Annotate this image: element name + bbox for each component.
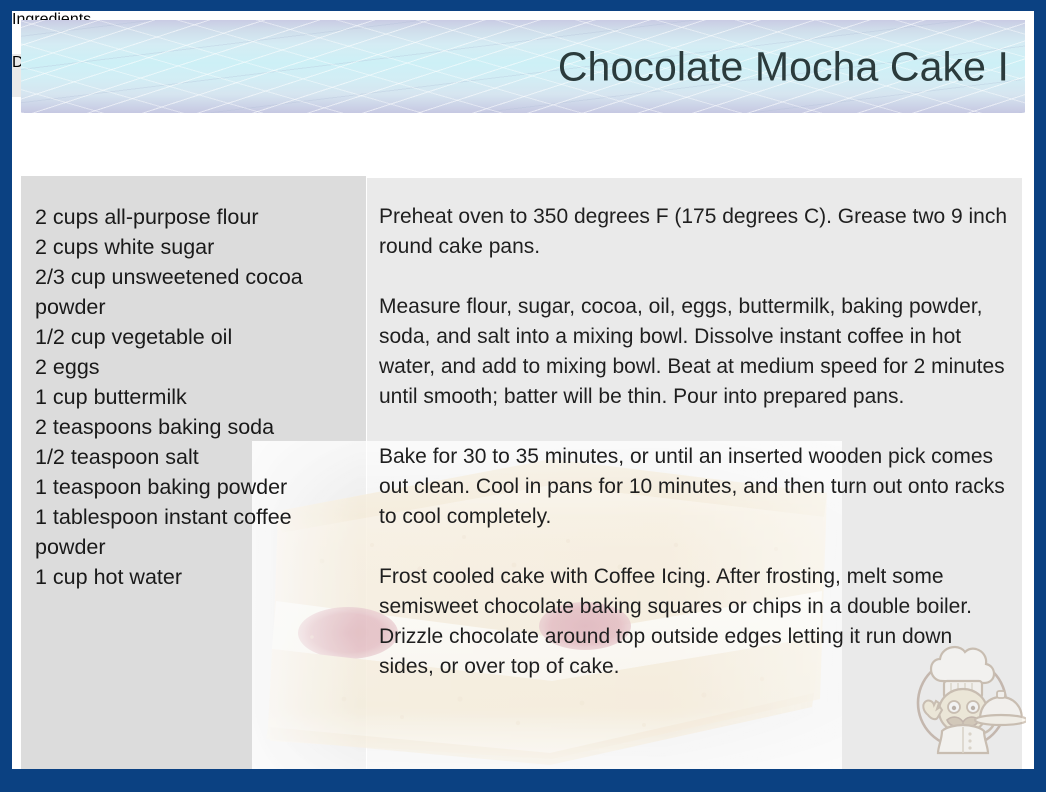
ingredient-item: 1 cup hot water <box>35 562 358 592</box>
ingredients-list: 2 cups all-purpose flour2 cups white sug… <box>35 202 358 592</box>
ingredient-item: 1 cup buttermilk <box>35 382 358 412</box>
ingredient-item: 1/2 cup vegetable oil <box>35 322 358 352</box>
title-banner: Chocolate Mocha Cake I <box>21 20 1025 113</box>
ingredient-item: 1 tablespoon instant coffee powder <box>35 502 358 562</box>
ingredient-item: 2 teaspoons baking soda <box>35 412 358 442</box>
direction-paragraph: Measure flour, sugar, cocoa, oil, eggs, … <box>379 292 1009 412</box>
page-title: Chocolate Mocha Cake I <box>558 46 1009 87</box>
directions-text: Preheat oven to 350 degrees F (175 degre… <box>379 202 1009 682</box>
ingredient-item: 2/3 cup unsweetened cocoa powder <box>35 262 358 322</box>
direction-paragraph: Bake for 30 to 35 minutes, or until an i… <box>379 442 1009 532</box>
direction-paragraph: Frost cooled cake with Coffee Icing. Aft… <box>379 562 1009 682</box>
recipe-slide: Chocolate Mocha Cake I Ingredients 2 cup… <box>0 0 1046 792</box>
direction-paragraph: Preheat oven to 350 degrees F (175 degre… <box>379 202 1009 262</box>
ingredient-item: 2 cups white sugar <box>35 232 358 262</box>
directions-panel: Preheat oven to 350 degrees F (175 degre… <box>367 178 1022 769</box>
ingredients-panel: 2 cups all-purpose flour2 cups white sug… <box>21 176 366 769</box>
slide-content-area: Chocolate Mocha Cake I Ingredients 2 cup… <box>12 11 1034 769</box>
ingredient-item: 1/2 teaspoon salt <box>35 442 358 472</box>
ingredient-item: 2 eggs <box>35 352 358 382</box>
ingredient-item: 1 teaspoon baking powder <box>35 472 358 502</box>
ingredient-item: 2 cups all-purpose flour <box>35 202 358 232</box>
